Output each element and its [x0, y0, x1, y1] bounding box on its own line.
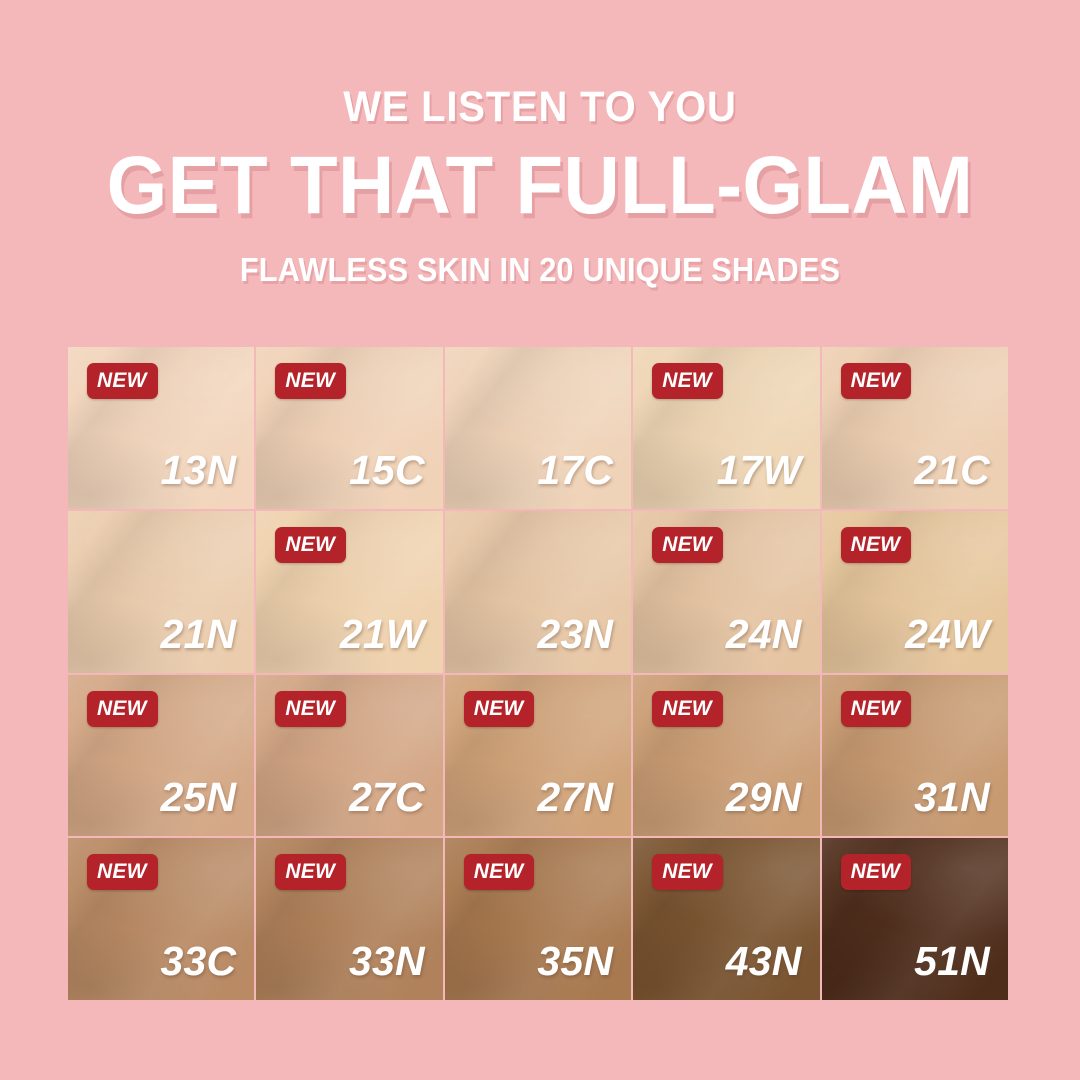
new-badge: NEW [87, 691, 158, 727]
shade-swatch[interactable]: NEW27C [256, 675, 442, 837]
page-title: GET THAT FULL-GLAM [27, 145, 1053, 227]
shade-code-label: 21W [340, 614, 425, 655]
new-badge: NEW [652, 854, 723, 890]
shade-code-label: 43N [726, 941, 802, 982]
shade-code-label: 23N [537, 614, 613, 655]
subtitle-text: FLAWLESS SKIN IN 20 UNIQUE SHADES [38, 253, 1042, 286]
shade-swatch[interactable]: NEW33C [68, 838, 254, 1000]
shade-code-label: 33C [161, 941, 237, 982]
headline-block: WE LISTEN TO YOU GET THAT FULL-GLAM FLAW… [0, 0, 1080, 286]
shade-swatch[interactable]: NEW17C [445, 347, 631, 509]
new-badge: NEW [841, 527, 912, 563]
shade-code-label: 35N [537, 941, 613, 982]
new-badge: NEW [841, 363, 912, 399]
shade-code-label: 17C [537, 450, 613, 491]
shade-code-label: 29N [726, 777, 802, 818]
new-badge: NEW [275, 691, 346, 727]
new-badge: NEW [464, 854, 535, 890]
shade-swatch[interactable]: NEW13N [68, 347, 254, 509]
shade-code-label: 31N [914, 777, 990, 818]
new-badge: NEW [275, 854, 346, 890]
new-badge: NEW [87, 363, 158, 399]
shade-swatch[interactable]: NEW31N [822, 675, 1008, 837]
shade-code-label: 27N [537, 777, 613, 818]
shade-code-label: 27C [349, 777, 425, 818]
shade-swatch[interactable]: NEW24W [822, 511, 1008, 673]
new-badge: NEW [87, 854, 158, 890]
shade-code-label: 25N [161, 777, 237, 818]
shade-code-label: 17W [717, 450, 802, 491]
new-badge: NEW [275, 363, 346, 399]
shade-code-label: 15C [349, 450, 425, 491]
shade-swatch[interactable]: NEW33N [256, 838, 442, 1000]
shade-swatch[interactable]: NEW21C [822, 347, 1008, 509]
shade-code-label: 21N [161, 614, 237, 655]
new-badge: NEW [652, 527, 723, 563]
shade-range-poster: WE LISTEN TO YOU GET THAT FULL-GLAM FLAW… [0, 0, 1080, 1080]
new-badge: NEW [464, 691, 535, 727]
shade-code-label: 33N [349, 941, 425, 982]
shade-swatch[interactable]: NEW21N [68, 511, 254, 673]
shade-swatch[interactable]: NEW35N [445, 838, 631, 1000]
shade-swatch[interactable]: NEW43N [633, 838, 819, 1000]
new-badge: NEW [652, 363, 723, 399]
new-badge: NEW [841, 691, 912, 727]
shade-swatch[interactable]: NEW21W [256, 511, 442, 673]
shade-swatch[interactable]: NEW17W [633, 347, 819, 509]
shade-swatch[interactable]: NEW51N [822, 838, 1008, 1000]
shade-code-label: 21C [914, 450, 990, 491]
new-badge: NEW [841, 854, 912, 890]
shade-swatch[interactable]: NEW23N [445, 511, 631, 673]
new-badge: NEW [652, 691, 723, 727]
shade-code-label: 51N [914, 941, 990, 982]
shade-code-label: 13N [161, 450, 237, 491]
kicker-text: WE LISTEN TO YOU [38, 86, 1042, 129]
new-badge: NEW [275, 527, 346, 563]
shade-swatch[interactable]: NEW15C [256, 347, 442, 509]
shade-code-label: 24W [905, 614, 990, 655]
shade-swatch[interactable]: NEW25N [68, 675, 254, 837]
shade-swatch[interactable]: NEW27N [445, 675, 631, 837]
shade-swatch-grid: NEW13NNEW15CNEW17CNEW17WNEW21CNEW21NNEW2… [68, 347, 1008, 1000]
shade-code-label: 24N [726, 614, 802, 655]
shade-swatch[interactable]: NEW24N [633, 511, 819, 673]
shade-swatch[interactable]: NEW29N [633, 675, 819, 837]
